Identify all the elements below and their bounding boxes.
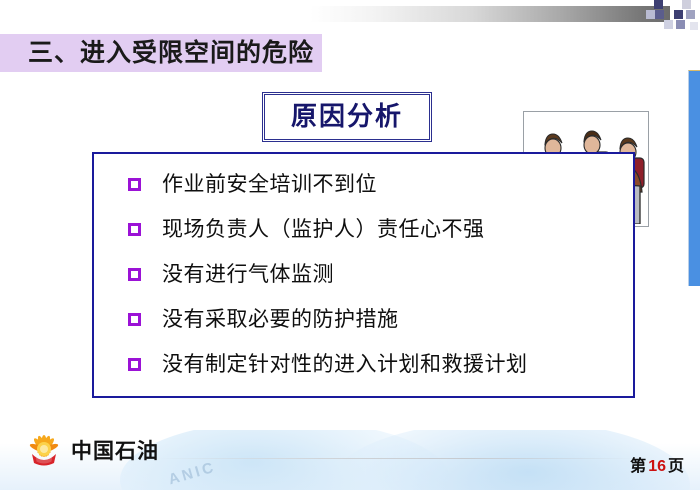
content-box: 作业前安全培训不到位 现场负责人（监护人）责任心不强 没有进行气体监测 没有采取…: [92, 152, 635, 398]
right-blue-bar: [688, 70, 700, 286]
square-bullet-icon: [128, 223, 141, 236]
list-item: 没有进行气体监测: [94, 252, 633, 297]
mosaic-square: [690, 22, 698, 30]
page-prefix: 第: [630, 458, 646, 475]
page-number-value: 16: [646, 458, 668, 475]
mosaic-square: [664, 20, 673, 29]
list-item-label: 没有采取必要的防护措施: [162, 307, 399, 333]
square-bullet-icon: [128, 313, 141, 326]
brand-logo: 中国石油: [26, 432, 159, 468]
list-item: 没有采取必要的防护措施: [94, 297, 633, 342]
page-number: 第16页: [630, 452, 684, 476]
slide-canvas: 三、进入受限空间的危险 原因分析: [0, 0, 700, 490]
mosaic-square: [676, 20, 685, 29]
list-item: 没有制定针对性的进入计划和救援计划: [94, 342, 633, 387]
page-title: 三、进入受限空间的危险: [28, 36, 314, 70]
mosaic-square: [672, 0, 681, 9]
footer-divider: [155, 458, 635, 459]
section-heading-box: 原因分析: [262, 92, 432, 142]
square-bullet-icon: [128, 178, 141, 191]
list-item-label: 没有制定针对性的进入计划和救援计划: [162, 352, 528, 378]
page-suffix: 页: [668, 458, 684, 475]
cause-list: 作业前安全培训不到位 现场负责人（监护人）责任心不强 没有进行气体监测 没有采取…: [94, 162, 633, 387]
list-item-label: 现场负责人（监护人）责任心不强: [162, 217, 485, 243]
section-heading-label: 原因分析: [291, 100, 403, 132]
petrochina-sun-icon: [26, 432, 62, 468]
list-item-label: 作业前安全培训不到位: [162, 172, 377, 198]
mosaic-squares: [646, 0, 700, 34]
square-bullet-icon: [128, 268, 141, 281]
mosaic-square: [654, 0, 663, 9]
mosaic-square: [682, 0, 691, 9]
top-gradient-bar: [310, 6, 670, 22]
list-item-label: 没有进行气体监测: [162, 262, 334, 288]
brand-name: 中国石油: [71, 435, 159, 465]
square-bullet-icon: [128, 358, 141, 371]
mosaic-square: [655, 10, 664, 19]
mosaic-square: [674, 10, 683, 19]
list-item: 作业前安全培训不到位: [94, 162, 633, 207]
mosaic-square: [686, 10, 695, 19]
mosaic-square: [646, 10, 655, 19]
list-item: 现场负责人（监护人）责任心不强: [94, 207, 633, 252]
